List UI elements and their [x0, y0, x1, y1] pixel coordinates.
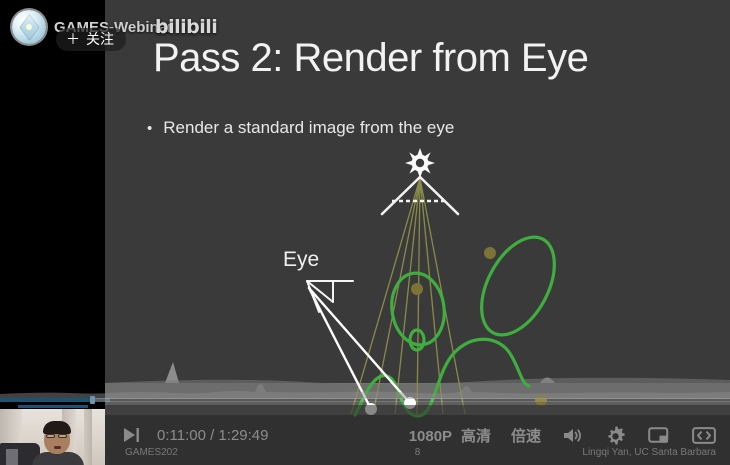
player-control-bar[interactable]: 0:11:00 / 1:29:49 1080P 高清 倍速	[105, 405, 730, 465]
light-rays	[351, 178, 465, 414]
audio-heatmap	[0, 383, 730, 399]
webcam-doorframe-edge	[84, 405, 92, 465]
follow-button-label: 关注	[86, 32, 114, 46]
quality-value: 1080P	[409, 428, 452, 445]
light-source-icon	[405, 148, 435, 178]
progress-thumb[interactable]	[90, 396, 95, 404]
avatar[interactable]	[12, 10, 46, 44]
time-display: 0:11:00 / 1:29:49	[157, 427, 268, 444]
presenter-glasses-left	[46, 434, 55, 438]
volume-icon[interactable]	[551, 426, 594, 445]
presenter-glasses-right	[58, 434, 67, 438]
scene-circle-tiny	[410, 330, 424, 350]
progress-bar-area[interactable]	[0, 383, 730, 405]
video-player[interactable]: Pass 2: Render from Eye • Render a stand…	[0, 0, 730, 465]
presenter-webcam[interactable]	[0, 405, 105, 465]
progress-fill	[0, 398, 90, 402]
bullet-label: Render a standard image from the eye	[163, 118, 454, 138]
bullet-item: • Render a standard image from the eye	[147, 118, 454, 138]
follow-button[interactable]: ＋ 关注	[56, 28, 126, 51]
eye-label: Eye	[283, 248, 319, 272]
scene-ellipse-large	[467, 225, 570, 347]
webcam-desk-object	[6, 449, 18, 465]
control-bar-right-group: 1080P 高清 倍速	[399, 425, 730, 446]
play-next-icon[interactable]	[121, 425, 141, 445]
presenter-mouth	[54, 446, 61, 449]
playback-speed-selector[interactable]: 倍速	[501, 425, 551, 446]
bullet-marker: •	[147, 121, 152, 136]
widescreen-icon[interactable]	[681, 427, 730, 444]
picture-in-picture-icon[interactable]	[637, 426, 681, 445]
gear-icon[interactable]	[594, 425, 637, 446]
webcam-top-accent	[18, 405, 88, 408]
page-title: Pass 2: Render from Eye	[153, 36, 713, 81]
plus-icon: ＋	[66, 32, 80, 46]
presenter-hair	[43, 421, 71, 434]
cube-highlight-icon	[26, 24, 32, 30]
quality-suffix: 高清	[456, 428, 491, 445]
ground-bump-left	[165, 362, 179, 383]
cube-logo-icon	[19, 13, 40, 40]
quality-selector[interactable]: 1080P 高清	[399, 425, 501, 446]
